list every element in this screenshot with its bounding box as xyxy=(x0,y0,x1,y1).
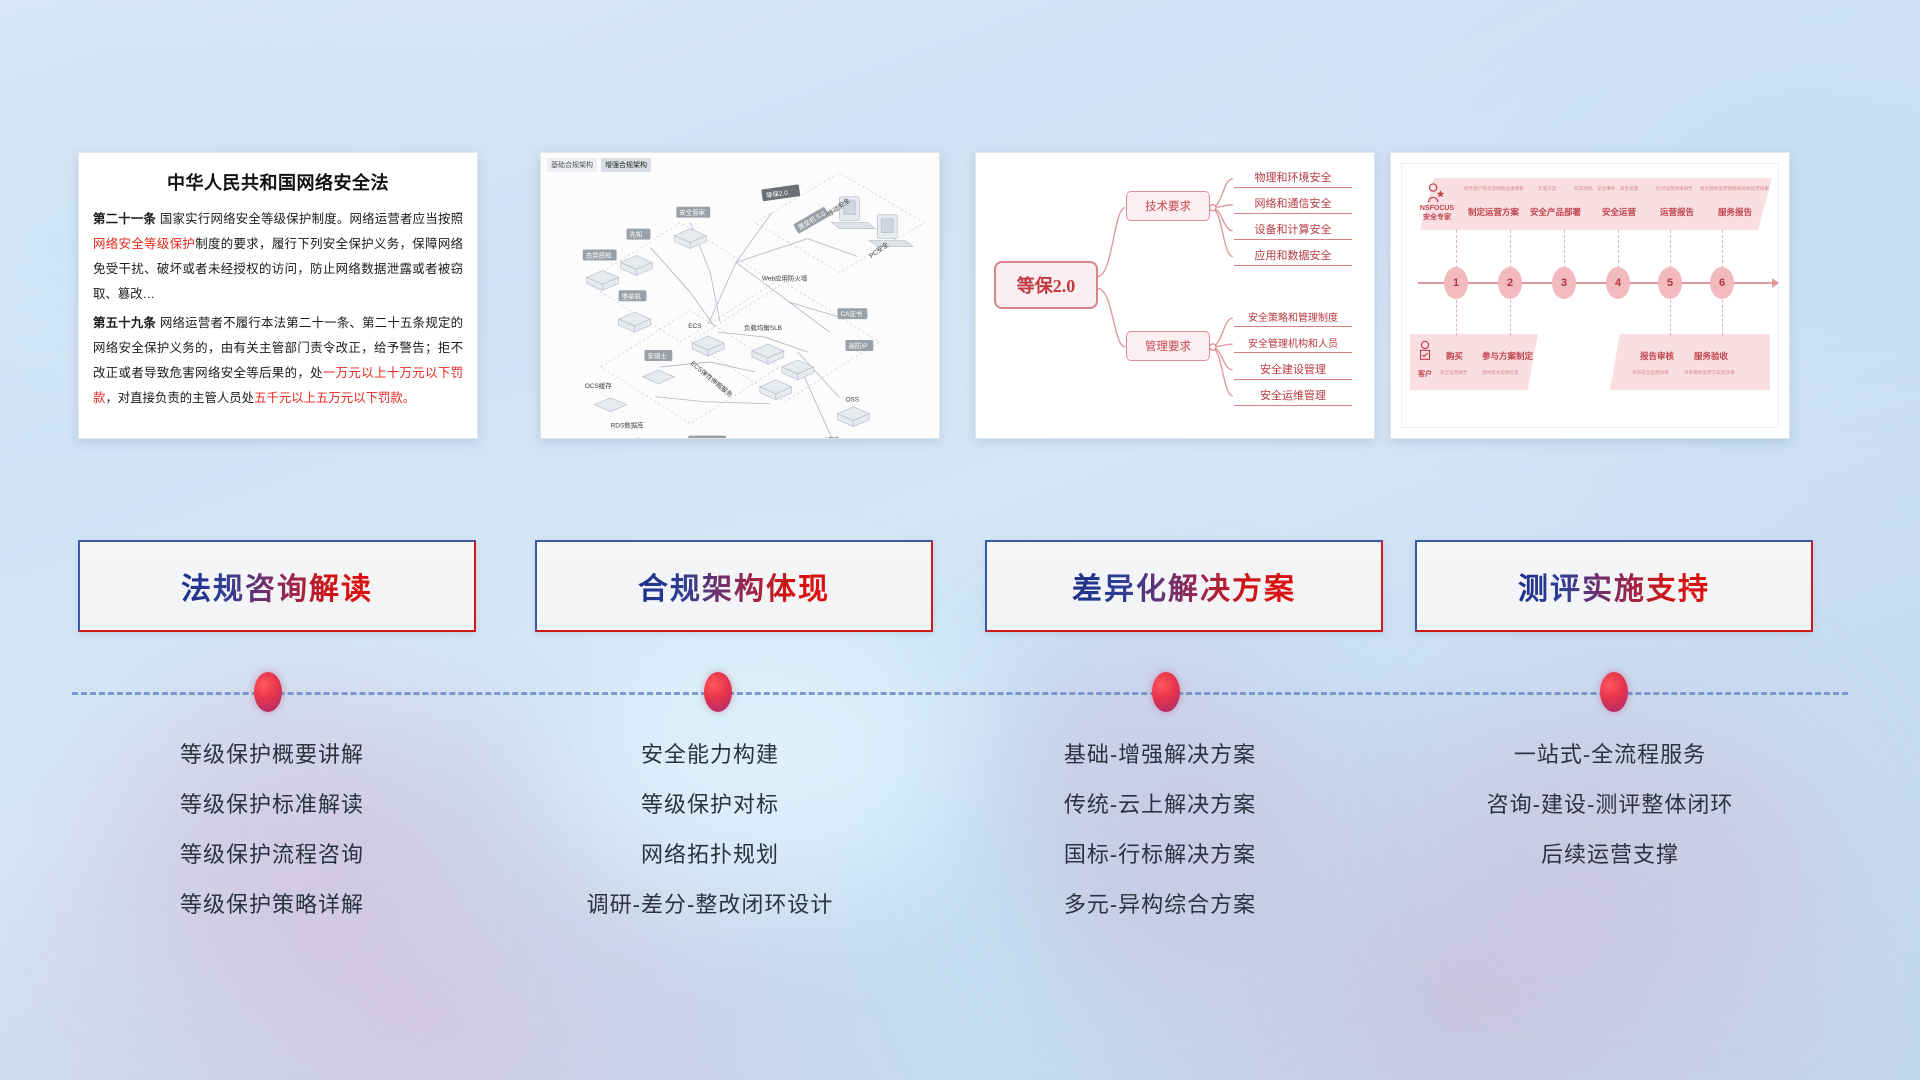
svg-text:Web应用防火墙: Web应用防火墙 xyxy=(762,273,808,282)
nsfocus-bottom-main: 服务验收 xyxy=(1694,350,1728,362)
nsfocus-bottom-main: 参与方案制定 xyxy=(1482,350,1533,362)
list-item: 基础-增强解决方案 xyxy=(950,730,1370,780)
expert-person-icon xyxy=(1424,182,1446,204)
law-article-label-59: 第五十九条 xyxy=(93,316,156,330)
list-item: 多元-异构综合方案 xyxy=(950,880,1370,930)
detail-list-assessment-support: 一站式-全流程服务 咨询-建设-测评整体闭环 后续运营支撑 xyxy=(1400,730,1820,880)
svg-text:ECS弹性伸缩服务: ECS弹性伸缩服务 xyxy=(689,359,735,400)
customer-person-icon xyxy=(1416,340,1434,366)
image-card-row: 中华人民共和国网络安全法 第二十一条 国家实行网络安全等级保护制度。网络运营者应… xyxy=(0,0,1920,470)
mindmap-branch-management: 管理要求 xyxy=(1126,331,1210,361)
law-seg-highlight: 五千元以上五万元以下罚款。 xyxy=(254,391,415,405)
list-item: 调研-差分-整改闭环设计 xyxy=(500,880,920,930)
nsfocus-bottom-sub: 评审整体运营方案及效果 xyxy=(1684,370,1735,376)
mindmap-branch-technical: 技术要求 xyxy=(1126,191,1210,221)
svg-text:先知: 先知 xyxy=(630,230,643,239)
headline-label: 合规架构体现 xyxy=(638,564,830,608)
nsfocus-top-sub: 结合客户现状及网络运维需要 xyxy=(1464,186,1524,192)
list-item: 后续运营支撑 xyxy=(1400,830,1820,880)
law-paragraph-21: 第二十一条 国家实行网络安全等级保护制度。网络运营者应当按照网络安全等级保护制度… xyxy=(93,207,463,307)
headline-box-assessment-support[interactable]: 测评实施支持 xyxy=(1415,540,1813,632)
mindmap-leaf: 安全建设管理 xyxy=(1234,361,1352,380)
list-item: 国标-行标解决方案 xyxy=(950,830,1370,880)
nsfocus-expert-label: NSFOCUS安全专家 xyxy=(1414,204,1460,222)
detail-list-compliance-architecture: 安全能力构建 等级保护对标 网络拓扑规划 调研-差分-整改闭环设计 xyxy=(500,730,920,930)
nsfocus-step-dot: 3 xyxy=(1552,267,1576,299)
nsfocus-connector xyxy=(1510,230,1511,268)
nsfocus-bottom-main: 购买 xyxy=(1446,350,1463,362)
timeline-node-1[interactable] xyxy=(254,672,282,712)
list-item: 等级保护标准解读 xyxy=(62,780,482,830)
law-article-label-21: 第二十一条 xyxy=(93,212,156,226)
list-item: 一站式-全流程服务 xyxy=(1400,730,1820,780)
mindmap-leaf: 物理和环境安全 xyxy=(1234,169,1352,188)
nsfocus-customer-label: 客户 xyxy=(1412,370,1438,379)
architecture-diagram: 基础合规架构 增强合规架构 xyxy=(541,153,939,438)
nsfocus-top-main: 运营报告 xyxy=(1660,206,1694,218)
law-seg: ，对直接负责的主管人员处 xyxy=(105,391,254,405)
nsfocus-step-dot: 5 xyxy=(1658,267,1682,299)
nsfocus-top-main: 制定运营方案 xyxy=(1468,206,1519,218)
card-nsfocus-service-timeline: NSFOCUS安全专家 客户 结合客户现状及网络运维需要 制定运营方案 实施方案… xyxy=(1390,152,1790,439)
nsfocus-axis-arrow-icon xyxy=(1772,278,1779,288)
headline-row: 法规咨询解读 合规架构体现 差异化解决方案 测评实施支持 xyxy=(0,540,1920,650)
timeline-node-2[interactable] xyxy=(704,672,732,712)
svg-text:OSS: OSS xyxy=(845,397,859,404)
headline-box-regulation-consulting[interactable]: 法规咨询解读 xyxy=(78,540,476,632)
mindmap-root-node: 等保2.0 xyxy=(994,261,1098,309)
timeline-dashed-line xyxy=(72,692,1848,695)
nsfocus-top-main: 安全产品部署 xyxy=(1530,206,1581,218)
nsfocus-top-sub: 日常巡检、安全事件、紧急处置 xyxy=(1574,186,1638,192)
list-item: 等级保护概要讲解 xyxy=(62,730,482,780)
law-seg: 国家实行网络安全等级保护制度。网络运营者应当按照 xyxy=(156,212,463,226)
svg-text:高防IP: 高防IP xyxy=(848,341,867,350)
nsfocus-bottom-main: 报告审核 xyxy=(1640,350,1674,362)
nsfocus-step-dot: 1 xyxy=(1444,267,1468,299)
mindmap-leaf: 网络和通信安全 xyxy=(1234,195,1352,214)
timeline-node-3[interactable] xyxy=(1152,672,1180,712)
mindmap: 等保2.0 技术要求 管理要求 物理和环境安全 网络和通信安全 设备和计算安全 … xyxy=(976,153,1374,438)
headline-box-compliance-architecture[interactable]: 合规架构体现 xyxy=(535,540,933,632)
nsfocus-bottom-sub: 评审安全运营效果 xyxy=(1632,370,1669,376)
law-paragraph-59: 第五十九条 网络运营者不履行本法第二十一条、第二十五条规定的网络安全保护义务的，… xyxy=(93,311,463,411)
svg-text:堡垒机: 堡垒机 xyxy=(622,291,642,300)
svg-text:态势感知: 态势感知 xyxy=(586,250,612,259)
nsfocus-bottom-sub: 安全运营报告 xyxy=(1440,370,1468,376)
list-item: 等级保护对标 xyxy=(500,780,920,830)
nsfocus-top-main: 服务报告 xyxy=(1718,206,1752,218)
card-cybersecurity-law: 中华人民共和国网络安全法 第二十一条 国家实行网络安全等级保护制度。网络运营者应… xyxy=(78,152,478,439)
nsfocus-step-dot: 4 xyxy=(1606,267,1630,299)
nsfocus-customer-band-right xyxy=(1610,334,1770,390)
detail-list-differentiated-solution: 基础-增强解决方案 传统-云上解决方案 国标-行标解决方案 多元-异构综合方案 xyxy=(950,730,1370,930)
law-title: 中华人民共和国网络安全法 xyxy=(79,169,477,195)
headline-box-differentiated-solution[interactable]: 差异化解决方案 xyxy=(985,540,1383,632)
timeline xyxy=(0,660,1920,720)
mindmap-leaf: 安全策略和管理制度 xyxy=(1234,309,1352,327)
list-item: 网络拓扑规划 xyxy=(500,830,920,880)
list-item: 等级保护策略详解 xyxy=(62,880,482,930)
nsfocus-connector xyxy=(1456,230,1457,268)
nsfocus-frame: NSFOCUS安全专家 客户 结合客户现状及网络运维需要 制定运营方案 实施方案… xyxy=(1401,163,1779,428)
nsfocus-connector xyxy=(1670,230,1671,268)
nsfocus-connector xyxy=(1456,300,1457,336)
nsfocus-bottom-sub: 提供基本现状信息 xyxy=(1482,370,1519,376)
nsfocus-connector xyxy=(1564,230,1565,268)
svg-text:安全管家: 安全管家 xyxy=(679,208,705,217)
list-item: 安全能力构建 xyxy=(500,730,920,780)
svg-text:VPC: VPC xyxy=(826,437,840,439)
svg-text:负载均衡SLB: 负载均衡SLB xyxy=(744,323,782,332)
list-item: 咨询-建设-测评整体闭环 xyxy=(1400,780,1820,830)
nsfocus-connector xyxy=(1722,300,1723,336)
detail-list-regulation-consulting: 等级保护概要讲解 等级保护标准解读 等级保护流程咨询 等级保护策略详解 xyxy=(62,730,482,930)
law-body: 第二十一条 国家实行网络安全等级保护制度。网络运营者应当按照网络安全等级保护制度… xyxy=(79,207,477,411)
card-dengbao-mindmap: 等保2.0 技术要求 管理要求 物理和环境安全 网络和通信安全 设备和计算安全 … xyxy=(975,152,1375,439)
headline-label: 差异化解决方案 xyxy=(1072,564,1296,608)
svg-text:安骑士: 安骑士 xyxy=(647,351,667,360)
svg-text:OCS缓存: OCS缓存 xyxy=(585,381,612,390)
nsfocus-diagram: NSFOCUS安全专家 客户 结合客户现状及网络运维需要 制定运营方案 实施方案… xyxy=(1391,153,1789,438)
mindmap-leaf: 应用和数据安全 xyxy=(1234,247,1352,266)
nsfocus-top-sub: 给出整体运营策略和总体运营效果 xyxy=(1700,186,1769,192)
nsfocus-connector xyxy=(1670,300,1671,336)
svg-text:ECS: ECS xyxy=(688,323,702,330)
law-seg-highlight: 网络安全等级保护 xyxy=(93,237,195,251)
nsfocus-step-dot: 6 xyxy=(1710,267,1734,299)
list-item: 传统-云上解决方案 xyxy=(950,780,1370,830)
nsfocus-connector xyxy=(1618,230,1619,268)
mindmap-leaf: 安全运维管理 xyxy=(1234,387,1352,406)
nsfocus-connector xyxy=(1510,300,1511,336)
nsfocus-connector xyxy=(1722,230,1723,268)
nsfocus-step-dot: 2 xyxy=(1498,267,1522,299)
list-item: 等级保护流程咨询 xyxy=(62,830,482,880)
mindmap-leaf: 安全管理机构和人员 xyxy=(1234,335,1352,353)
nsfocus-top-sub: 针对运营效果报告 xyxy=(1656,186,1693,192)
headline-label: 测评实施支持 xyxy=(1518,564,1710,608)
architecture-canvas: 等保2.0 安全管家 先知 态势感知 堡垒机 安骑士 数据库审计 堡垒机 5.0 xyxy=(541,153,939,439)
nsfocus-top-sub: 实施方案 xyxy=(1538,186,1556,192)
mindmap-leaf: 设备和计算安全 xyxy=(1234,221,1352,240)
card-compliance-architecture: 基础合规架构 增强合规架构 xyxy=(540,152,940,439)
detail-list-row: 等级保护概要讲解 等级保护标准解读 等级保护流程咨询 等级保护策略详解 安全能力… xyxy=(0,730,1920,1010)
svg-text:RDS数据库: RDS数据库 xyxy=(611,421,645,430)
timeline-node-4[interactable] xyxy=(1600,672,1628,712)
headline-label: 法规咨询解读 xyxy=(181,564,373,608)
svg-text:CA证书: CA证书 xyxy=(840,309,862,318)
nsfocus-top-main: 安全运营 xyxy=(1602,206,1636,218)
